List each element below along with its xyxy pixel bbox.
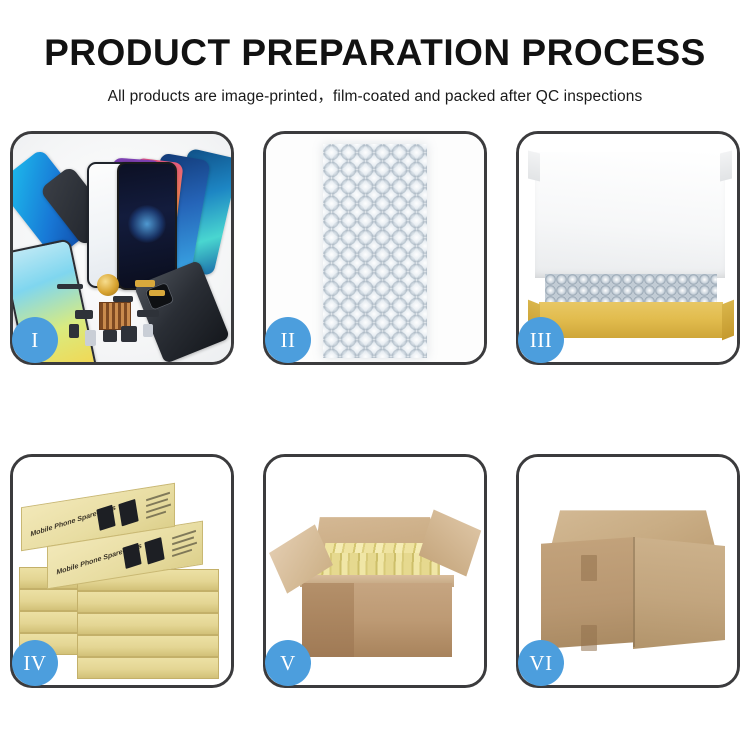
step-card-4[interactable]: Mobile Phone Spare Parts Mobile Phone Sp… xyxy=(10,454,234,688)
earpiece-part xyxy=(121,326,137,342)
camera-module-part xyxy=(75,310,93,319)
step-badge-4: IV xyxy=(12,640,58,686)
bubble-wrap-filling xyxy=(545,274,717,304)
bubble-wrap-sheet xyxy=(323,144,427,358)
step-badge-5: V xyxy=(265,640,311,686)
step-card-6[interactable]: VI xyxy=(516,454,740,688)
carton-right-face xyxy=(633,537,725,649)
carton-front-panel xyxy=(302,583,354,657)
vibrator-part xyxy=(103,330,117,342)
ribbon-part xyxy=(113,296,133,302)
page-title: PRODUCT PREPARATION PROCESS xyxy=(0,34,750,73)
page-subtitle: All products are image-printed，film-coat… xyxy=(0,84,750,106)
step-badge-6: VI xyxy=(518,640,564,686)
button-part xyxy=(69,324,79,338)
step-card-3[interactable]: III xyxy=(516,131,740,365)
kraft-box-base xyxy=(539,302,723,338)
box-artwork-phone xyxy=(118,499,138,526)
sealed-carton xyxy=(541,493,725,653)
stacked-box xyxy=(77,591,219,613)
step-card-5[interactable]: V xyxy=(263,454,487,688)
speaker-part xyxy=(97,274,119,296)
box-artwork-phone xyxy=(144,537,164,564)
step-badge-1: I xyxy=(12,317,58,363)
screw-set-part xyxy=(143,324,153,337)
flex-cable-part xyxy=(57,284,83,289)
box-lid-white xyxy=(535,152,725,278)
step-badge-2: II xyxy=(265,317,311,363)
carton-tape-mark xyxy=(581,625,597,651)
box-artwork-phone xyxy=(96,505,115,531)
gold-bracket-part xyxy=(149,290,165,296)
antenna-part xyxy=(137,310,159,317)
process-steps-grid: I II III xyxy=(10,131,740,688)
stacked-box xyxy=(77,657,219,679)
stacked-box xyxy=(77,635,219,657)
bubble-wrap-texture xyxy=(323,144,427,358)
page-header: PRODUCT PREPARATION PROCESS All products… xyxy=(0,0,750,106)
stacked-box xyxy=(77,613,219,635)
step-badge-3: III xyxy=(518,317,564,363)
carton-tape-mark xyxy=(581,555,597,581)
sim-tray-part xyxy=(85,330,96,346)
phone-screen-dark xyxy=(117,162,177,290)
step-card-2[interactable]: II xyxy=(263,131,487,365)
step-card-1[interactable]: I xyxy=(10,131,234,365)
box-artwork-phone xyxy=(122,543,141,569)
gold-connector-part xyxy=(135,280,155,287)
carton-corner-seam xyxy=(633,537,635,647)
